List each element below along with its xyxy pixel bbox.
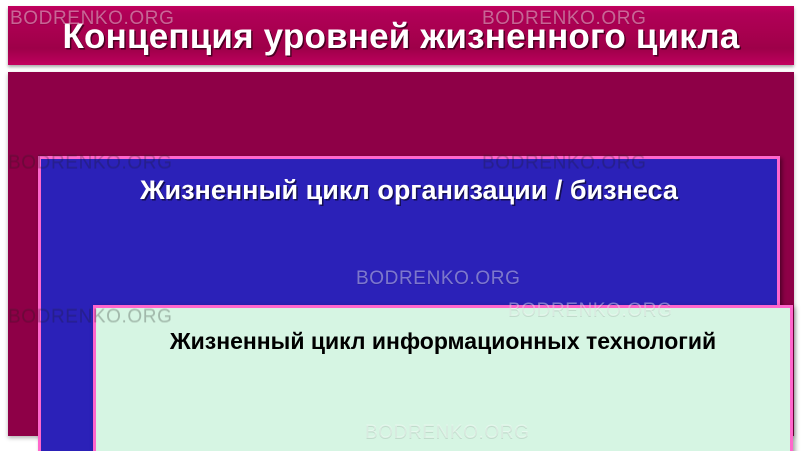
lifecycle-level-business[interactable]: Жизненный цикл организации / бизнеса Жиз… <box>38 156 780 451</box>
lifecycle-level-it-label: Жизненный цикл информационных технологий <box>96 328 790 355</box>
slide-canvas: Концепция уровней жизненного цикла Жизне… <box>0 0 802 451</box>
slide-title-bar: Концепция уровней жизненного цикла <box>8 6 794 65</box>
lifecycle-level-business-label: Жизненный цикл организации / бизнеса <box>41 175 777 206</box>
diagram-outer-frame: Жизненный цикл организации / бизнеса Жиз… <box>8 72 794 436</box>
page-title: Концепция уровней жизненного цикла <box>63 19 740 54</box>
lifecycle-level-it[interactable]: Жизненный цикл информационных технологий… <box>93 305 793 451</box>
